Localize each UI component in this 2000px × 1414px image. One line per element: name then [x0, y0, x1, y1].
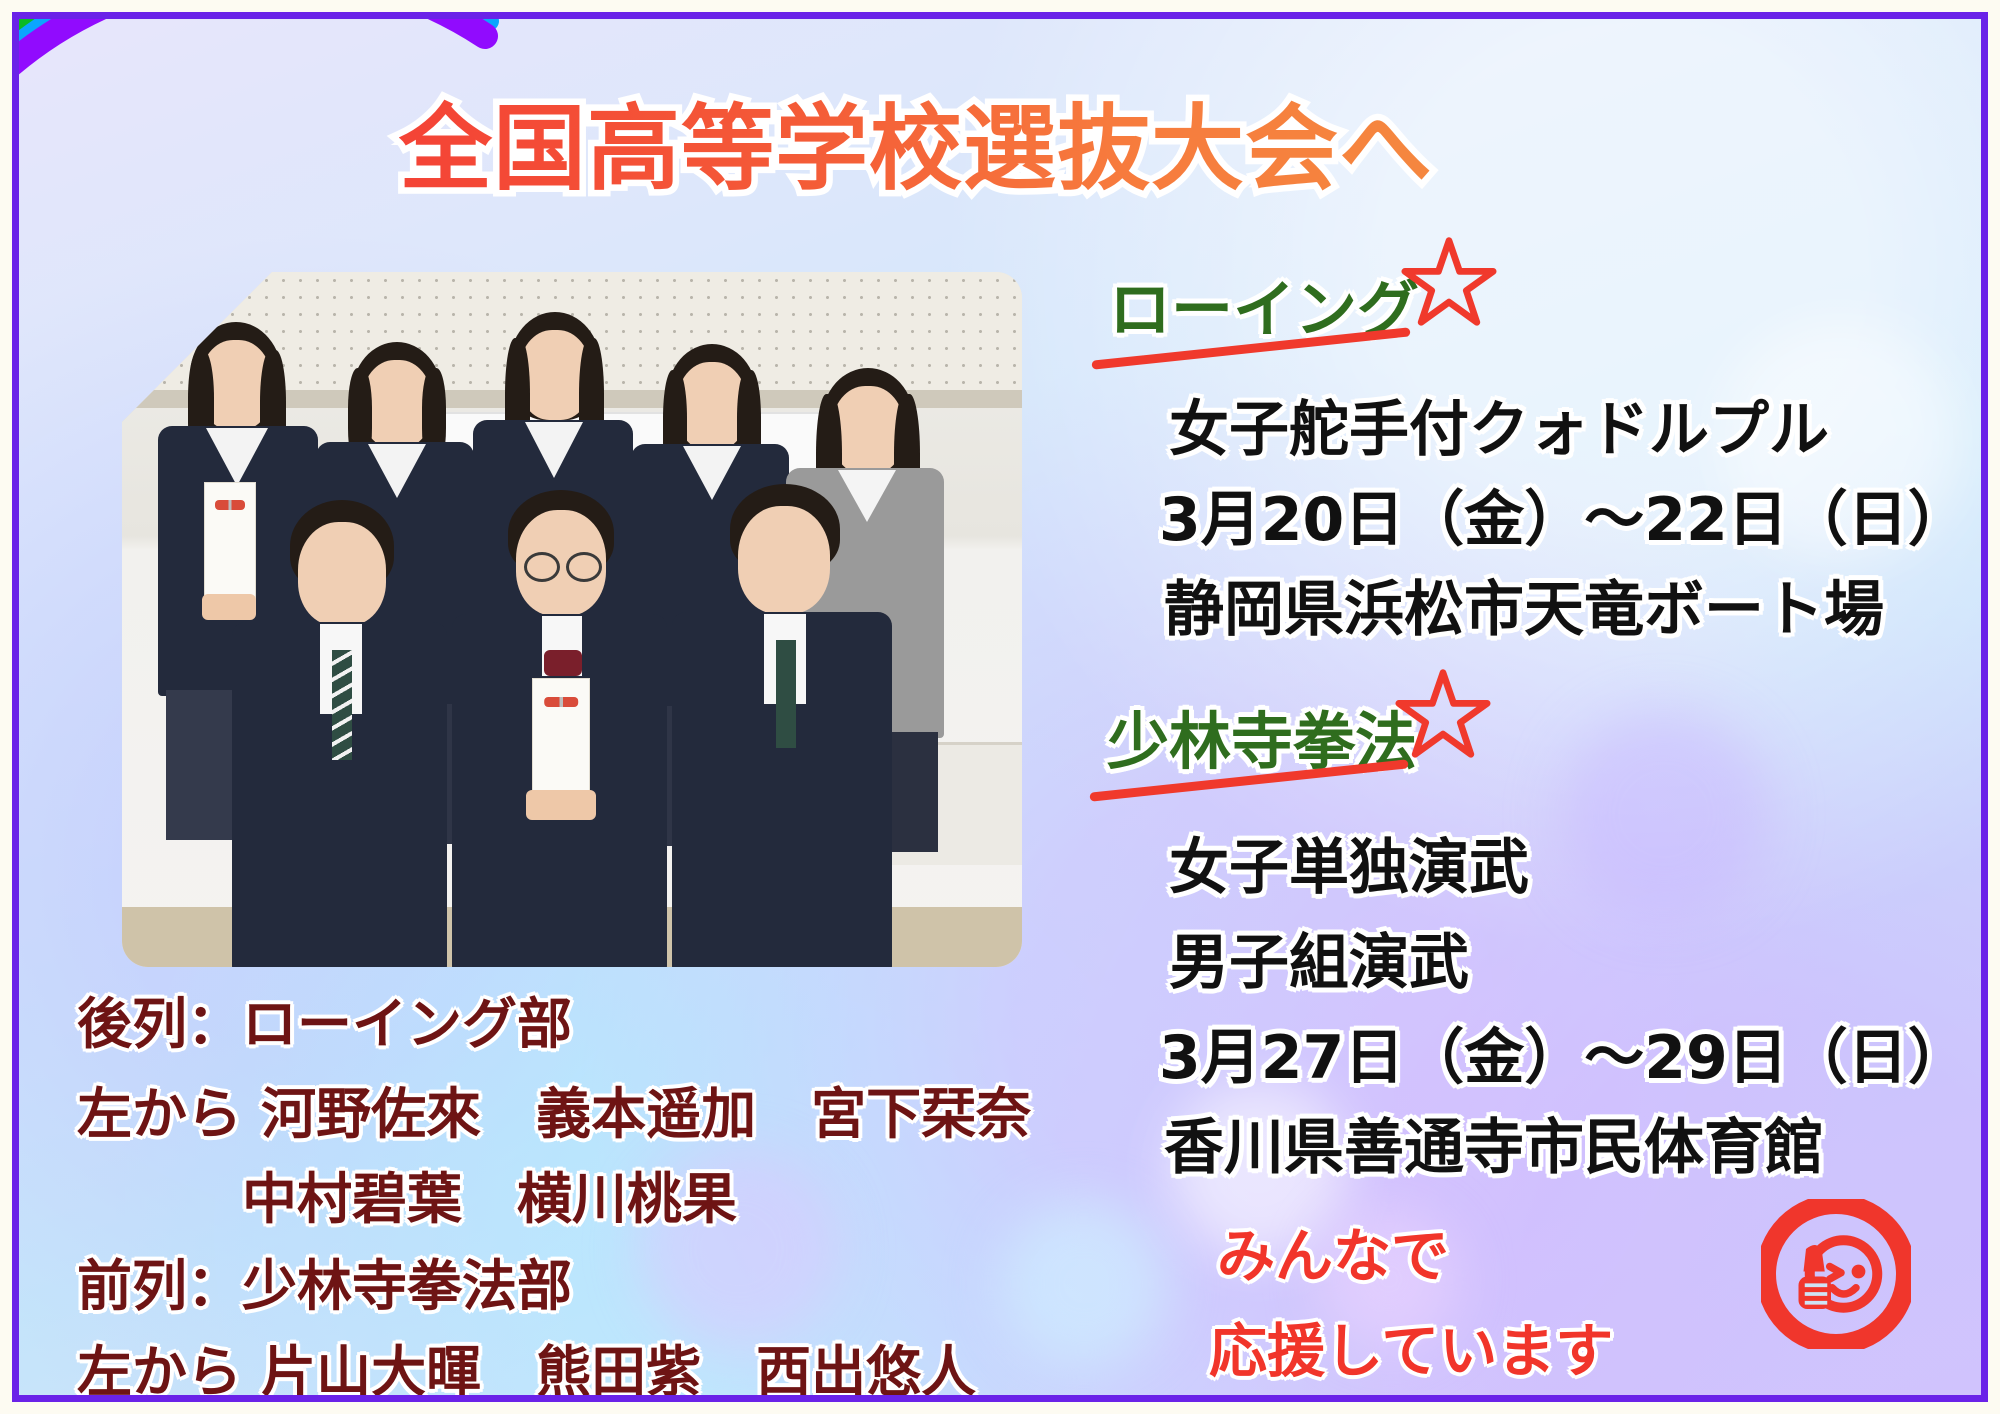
rowing-event-venue: 静岡県浜松市天竜ボート場 — [1164, 561, 1884, 648]
cheer-line-1: みんなで — [1217, 1209, 1449, 1293]
page-title: 全国高等学校選抜大会へ — [399, 73, 1433, 208]
roster-line-front-label: 前列：少林寺拳法部 — [77, 1241, 572, 1321]
photo-person-front-2 — [452, 490, 667, 967]
team-photo — [122, 272, 1022, 967]
section-heading-rowing: ローイング — [1109, 259, 1419, 349]
poster-root: 全国高等学校選抜大会へ 全国高等学校選抜大会へ — [0, 0, 2000, 1414]
bokeh-blob — [1559, 709, 1769, 919]
bokeh-blob — [999, 1199, 1169, 1369]
kempo-event-2: 男子組演武 — [1169, 914, 1469, 1001]
cheer-line-2: 応援しています — [1209, 1304, 1613, 1388]
star-icon — [1401, 233, 1497, 329]
photo-person-front-1 — [232, 500, 447, 967]
rowing-event-date: 3月20日（金）～22日（日） — [1159, 471, 1968, 558]
photo-person-front-3 — [672, 484, 892, 967]
kempo-event-venue: 香川県善通寺市民体育館 — [1164, 1099, 1824, 1186]
kempo-event-1: 女子単独演武 — [1169, 819, 1529, 906]
roster-line-front-names: 左から 片山大暉 熊田紫 西出悠人 — [77, 1327, 976, 1402]
star-icon — [1395, 665, 1491, 761]
rowing-event-name: 女子舵手付クォドルプル — [1169, 381, 1829, 468]
poster-frame: 全国高等学校選抜大会へ 全国高等学校選抜大会へ — [12, 12, 1988, 1402]
roster-line-back-names-2: 中村碧葉 横川桃果 — [77, 1154, 737, 1234]
roster-line-back-names-1: 左から 河野佐來 義本遥加 宮下栞奈 — [77, 1069, 1031, 1149]
kempo-event-date: 3月27日（金）～29日（日） — [1159, 1009, 1968, 1096]
section-heading-kempo: 少林寺拳法 — [1107, 691, 1417, 781]
school-mascot-logo-icon — [1761, 1199, 1911, 1349]
roster-line-back-label: 後列：ローイング部 — [77, 979, 572, 1059]
